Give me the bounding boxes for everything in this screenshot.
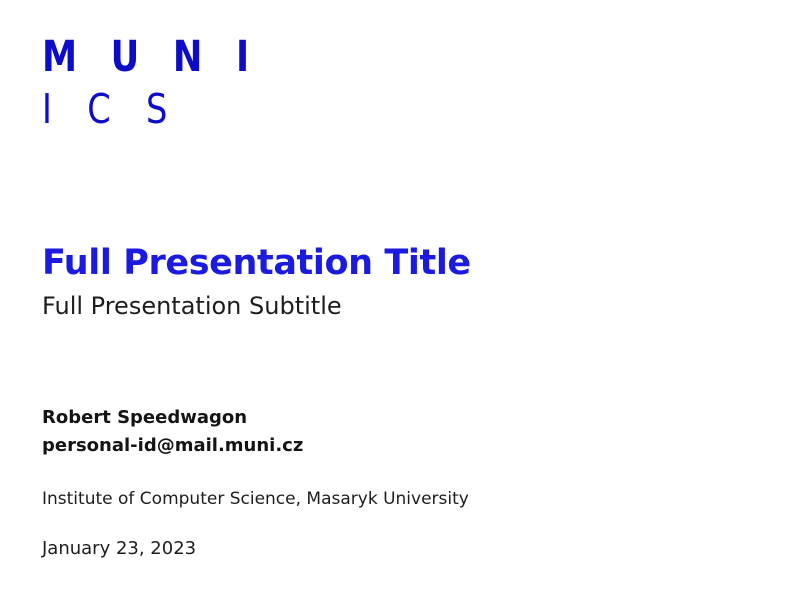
author-email: personal-id@mail.muni.cz xyxy=(42,432,742,460)
title-block: Full Presentation Title Full Presentatio… xyxy=(42,244,742,321)
author-name: Robert Speedwagon xyxy=(42,404,742,432)
affiliation: Institute of Computer Science, Masaryk U… xyxy=(42,488,742,510)
logo-line-muni: M U N I xyxy=(42,36,260,79)
title-slide: M U N I I C S Full Presentation Title Fu… xyxy=(0,0,794,596)
page-title: Full Presentation Title xyxy=(42,244,742,283)
presenter-meta-block: Robert Speedwagon personal-id@mail.muni.… xyxy=(42,404,742,560)
page-subtitle: Full Presentation Subtitle xyxy=(42,292,742,321)
presentation-date: January 23, 2023 xyxy=(42,537,742,560)
muni-ics-logo: M U N I I C S xyxy=(42,36,308,130)
logo-line-ics: I C S xyxy=(42,89,260,130)
